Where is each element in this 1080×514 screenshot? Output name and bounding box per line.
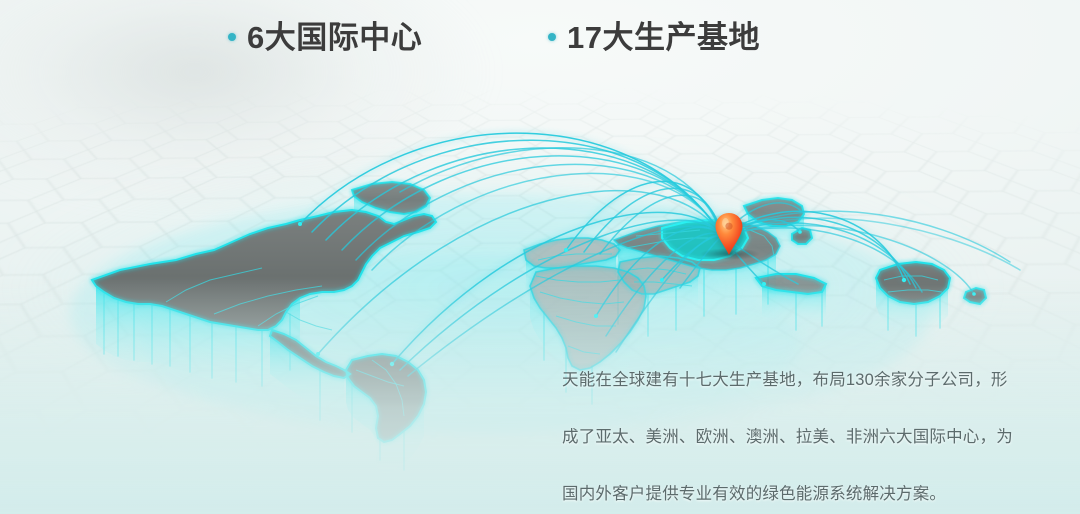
location-pin-icon[interactable] (714, 212, 744, 256)
headline-row: 6大国际中心 17大生产基地 (0, 22, 1080, 70)
heading-international-centers: 6大国际中心 (228, 22, 422, 53)
heading-production-bases: 17大生产基地 (548, 22, 760, 53)
slide-stage: 6大国际中心 17大生产基地 天能在全球建有十七大生产基地，布局130余家分子公… (0, 0, 1080, 514)
heading-label: 6大国际中心 (247, 22, 422, 53)
bullet-dot-icon (548, 33, 556, 41)
bullet-dot-icon (228, 33, 236, 41)
paragraph-line: 国内外客户提供专业有效的绿色能源系统解决方案。 (562, 480, 1022, 509)
body-paragraph: 天能在全球建有十七大生产基地，布局130余家分子公司，形 成了亚太、美洲、欧洲、… (562, 337, 1022, 514)
paragraph-line: 天能在全球建有十七大生产基地，布局130余家分子公司，形 (562, 366, 1022, 395)
heading-label: 17大生产基地 (567, 22, 760, 53)
paragraph-line: 成了亚太、美洲、欧洲、澳洲、拉美、非洲六大国际中心，为 (562, 423, 1022, 452)
